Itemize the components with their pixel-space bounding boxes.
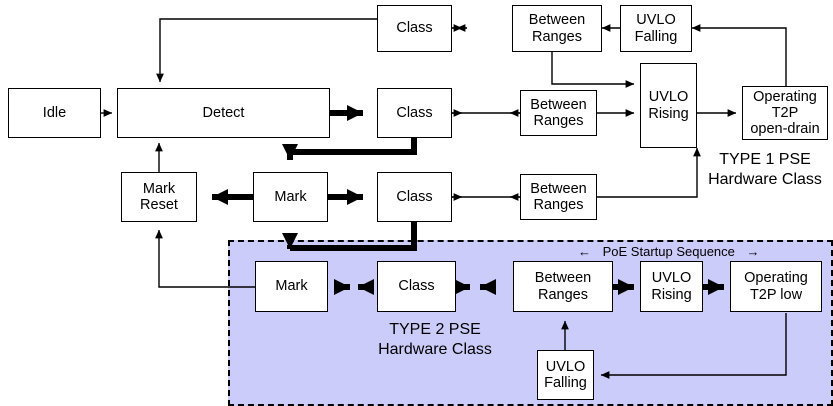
node-operating-t2p-line1: Operating: [753, 89, 817, 105]
node-between-row3-line2: Ranges: [534, 197, 584, 213]
node-mark-row3-label: Mark: [274, 189, 306, 205]
node-mark-reset-line1: Mark: [143, 181, 175, 197]
node-mark-reset-line2: Reset: [140, 197, 178, 213]
edge-between3-to-uvlorising: [597, 148, 697, 197]
node-mark-bottom-label: Mark: [275, 278, 307, 294]
type1-caption-line1: TYPE 1 PSE: [700, 150, 830, 170]
poe-startup-sequence-label: ← PoE Startup Sequence →: [578, 244, 760, 259]
node-between-top-line1: Between: [529, 12, 585, 28]
node-mark-bottom[interactable]: Mark: [255, 261, 328, 312]
node-operating-t2p-open-drain[interactable]: Operating T2P open-drain: [742, 86, 828, 140]
poe-arrow-left-icon: ←: [578, 244, 591, 259]
node-idle-label: Idle: [43, 105, 66, 121]
node-between-row3-line1: Between: [530, 181, 586, 197]
edge-class2-to-mark3: [290, 137, 414, 160]
node-class-row3-label: Class: [396, 189, 432, 205]
node-operating-t2p-line2: T2P: [772, 105, 799, 121]
node-uvlo-rising-bottom-line1: UVLO: [652, 270, 692, 286]
node-idle[interactable]: Idle: [8, 88, 101, 138]
type1-caption-line2: Hardware Class: [700, 170, 830, 190]
node-detect-label: Detect: [203, 105, 245, 121]
edge-class3-to-markbottom: [290, 222, 414, 249]
node-class-top-label: Class: [396, 20, 432, 36]
node-class-row3[interactable]: Class: [377, 172, 452, 222]
poe-sequence-text: PoE Startup Sequence: [595, 244, 743, 259]
node-class-row2-label: Class: [396, 105, 432, 121]
node-class-row2[interactable]: Class: [377, 88, 452, 138]
edge-classtop-to-detect: [160, 19, 377, 82]
node-operating-t2p-low[interactable]: Operating T2P low: [730, 261, 822, 312]
node-class-top[interactable]: Class: [377, 5, 452, 52]
state-diagram-canvas: Idle Detect Class Between Ranges UVLO Fa…: [0, 0, 833, 406]
node-operating-t2p-line3: open-drain: [750, 121, 819, 137]
node-mark-row3[interactable]: Mark: [253, 172, 328, 222]
node-operating-bottom-line1: Operating: [744, 270, 808, 286]
node-uvlo-rising-top[interactable]: UVLO Rising: [640, 63, 697, 148]
node-uvlo-rising-top-line1: UVLO: [649, 89, 689, 105]
edge-operating-to-uvlofallingtop: [692, 28, 786, 86]
node-class-bottom[interactable]: Class: [377, 261, 456, 312]
node-between-ranges-row3[interactable]: Between Ranges: [520, 174, 597, 220]
node-uvlo-rising-bottom-line2: Rising: [651, 287, 691, 303]
node-uvlo-falling-top-line2: Falling: [635, 29, 678, 45]
node-uvlo-rising-bottom[interactable]: UVLO Rising: [640, 261, 703, 312]
node-uvlo-falling-bottom-line2: Falling: [544, 375, 587, 391]
poe-arrow-right-icon: →: [747, 244, 760, 259]
type1-pse-caption: TYPE 1 PSE Hardware Class: [700, 150, 830, 189]
node-uvlo-rising-top-line2: Rising: [648, 106, 688, 122]
node-uvlo-falling-top[interactable]: UVLO Falling: [620, 5, 692, 52]
node-uvlo-falling-top-line1: UVLO: [636, 12, 676, 28]
node-uvlo-falling-bottom[interactable]: UVLO Falling: [537, 350, 594, 400]
node-operating-bottom-line2: T2P low: [750, 287, 802, 303]
type2-caption-line2: Hardware Class: [340, 340, 530, 360]
edge-betweentop-to-uvlorising: [552, 49, 634, 84]
node-between-row2-line2: Ranges: [534, 113, 584, 129]
edge-markbottom-to-markreset: [159, 230, 255, 287]
node-between-bottom-line2: Ranges: [538, 287, 588, 303]
node-mark-reset[interactable]: Mark Reset: [121, 172, 197, 222]
type2-pse-caption: TYPE 2 PSE Hardware Class: [340, 320, 530, 359]
node-between-ranges-row2[interactable]: Between Ranges: [520, 90, 597, 136]
node-between-ranges-bottom[interactable]: Between Ranges: [513, 261, 613, 312]
node-between-ranges-top[interactable]: Between Ranges: [512, 5, 602, 52]
node-detect[interactable]: Detect: [117, 88, 330, 138]
node-between-top-line2: Ranges: [532, 29, 582, 45]
edge-operatingbottom-to-uvlofallingbottom: [601, 313, 786, 375]
node-between-bottom-line1: Between: [535, 270, 591, 286]
node-class-bottom-label: Class: [398, 278, 434, 294]
node-between-row2-line1: Between: [530, 97, 586, 113]
node-uvlo-falling-bottom-line1: UVLO: [546, 359, 586, 375]
type2-caption-line1: TYPE 2 PSE: [340, 320, 530, 340]
